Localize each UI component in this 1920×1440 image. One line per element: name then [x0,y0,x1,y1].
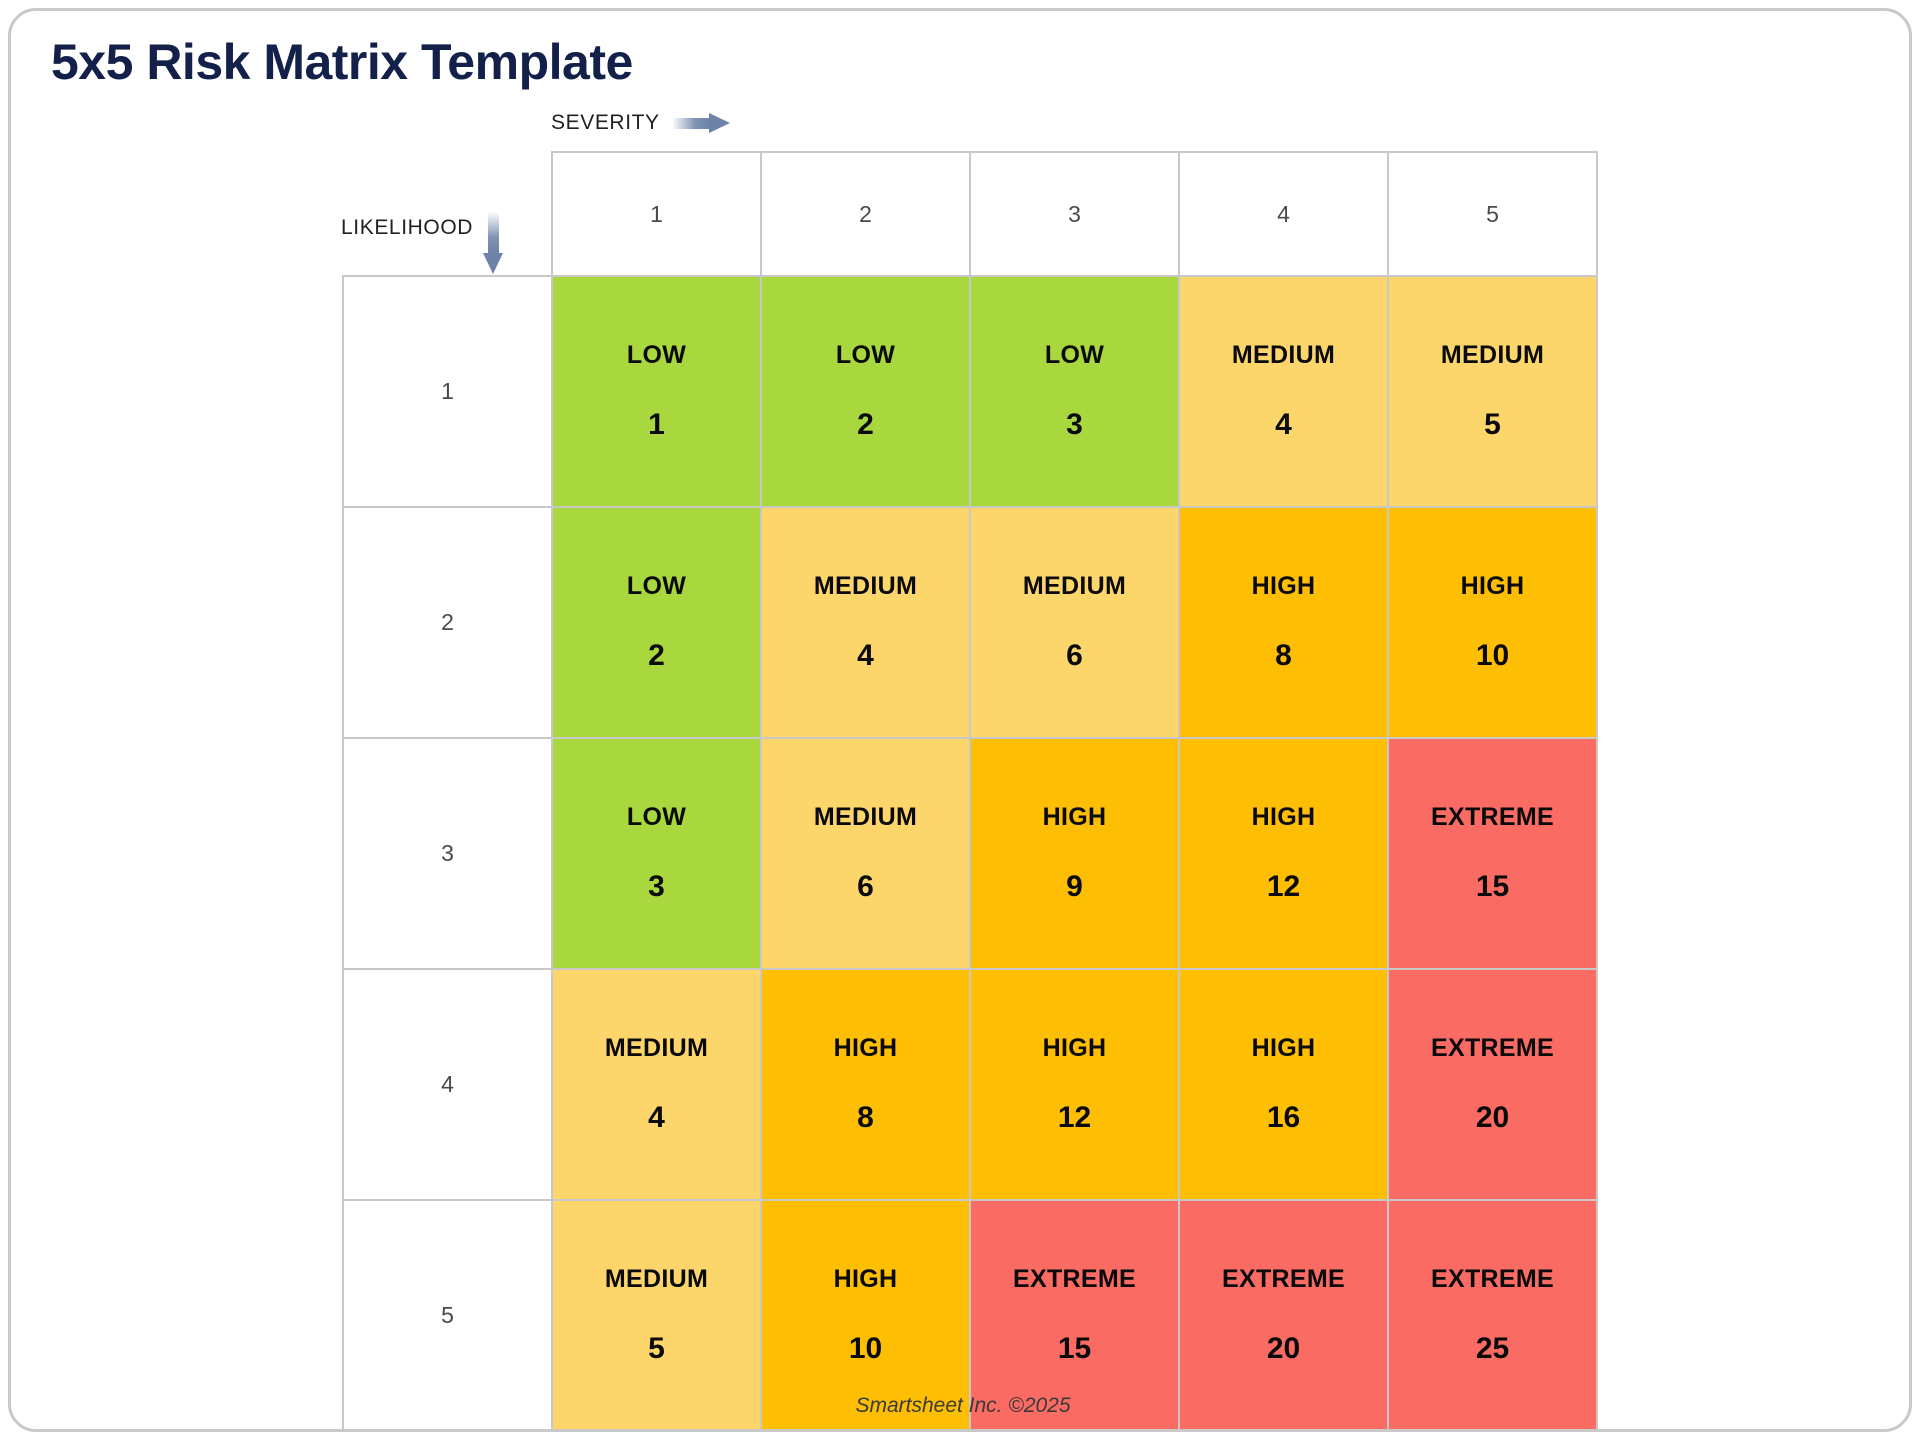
matrix-row: 4 MEDIUM 4 HIGH 8 HIGH 12 HIGH 16 EXTREM… [343,969,1597,1200]
risk-cell-l4-s4[interactable]: HIGH 16 [1179,969,1388,1200]
risk-cell-l4-s3[interactable]: HIGH 12 [970,969,1179,1200]
severity-axis-label: SEVERITY [551,111,730,135]
risk-score-value: 5 [1484,410,1501,440]
risk-score-value: 2 [857,410,874,440]
risk-cell-l3-s4[interactable]: HIGH 12 [1179,738,1388,969]
risk-level-label: LOW [627,805,686,830]
risk-cell-l3-s2[interactable]: MEDIUM 6 [761,738,970,969]
risk-level-label: EXTREME [1013,1267,1136,1292]
risk-score-value: 16 [1267,1103,1300,1133]
risk-cell-l2-s2[interactable]: MEDIUM 4 [761,507,970,738]
risk-level-label: EXTREME [1431,1036,1554,1061]
risk-matrix-card: 5x5 Risk Matrix Template SEVERITY LIKELI… [8,8,1912,1432]
severity-label-text: SEVERITY [551,111,660,135]
risk-cell-l1-s5[interactable]: MEDIUM 5 [1388,276,1597,507]
risk-matrix-table: 1 2 3 4 5 1 LOW 1 LOW 2 LOW 3 [342,151,1598,1432]
risk-level-label: MEDIUM [1441,343,1544,368]
risk-level-label: HIGH [1043,1036,1107,1061]
risk-score-value: 4 [1275,410,1292,440]
risk-score-value: 8 [857,1103,874,1133]
risk-cell-l3-s3[interactable]: HIGH 9 [970,738,1179,969]
risk-level-label: EXTREME [1431,1267,1554,1292]
risk-level-label: MEDIUM [1232,343,1335,368]
risk-score-value: 12 [1267,872,1300,902]
matrix-row: 1 LOW 1 LOW 2 LOW 3 MEDIUM 4 MEDIUM 5 [343,276,1597,507]
risk-level-label: HIGH [1252,805,1316,830]
footer-copyright: Smartsheet Inc. ©2025 [11,1394,1912,1418]
likelihood-header-3: 3 [343,738,552,969]
risk-level-label: HIGH [1043,805,1107,830]
risk-cell-l2-s4[interactable]: HIGH 8 [1179,507,1388,738]
risk-cell-l3-s5[interactable]: EXTREME 15 [1388,738,1597,969]
arrow-right-icon [672,113,730,133]
risk-score-value: 4 [857,641,874,671]
risk-score-value: 15 [1058,1334,1091,1364]
risk-cell-l1-s4[interactable]: MEDIUM 4 [1179,276,1388,507]
risk-score-value: 20 [1476,1103,1509,1133]
risk-level-label: LOW [627,343,686,368]
matrix-row: 3 LOW 3 MEDIUM 6 HIGH 9 HIGH 12 EXTREME … [343,738,1597,969]
risk-score-value: 3 [648,872,665,902]
risk-level-label: HIGH [1252,574,1316,599]
risk-level-label: LOW [627,574,686,599]
likelihood-header-4: 4 [343,969,552,1200]
risk-cell-l1-s1[interactable]: LOW 1 [552,276,761,507]
risk-level-label: HIGH [834,1036,898,1061]
risk-level-label: MEDIUM [814,574,917,599]
severity-header-1: 1 [552,152,761,276]
risk-score-value: 2 [648,641,665,671]
risk-cell-l4-s2[interactable]: HIGH 8 [761,969,970,1200]
matrix-row: 2 LOW 2 MEDIUM 4 MEDIUM 6 HIGH 8 HIGH 10 [343,507,1597,738]
risk-level-label: EXTREME [1222,1267,1345,1292]
risk-score-value: 10 [1476,641,1509,671]
risk-cell-l4-s5[interactable]: EXTREME 20 [1388,969,1597,1200]
risk-level-label: HIGH [1461,574,1525,599]
risk-score-value: 8 [1275,641,1292,671]
risk-cell-l2-s3[interactable]: MEDIUM 6 [970,507,1179,738]
severity-header-2: 2 [761,152,970,276]
risk-level-label: MEDIUM [605,1267,708,1292]
risk-score-value: 9 [1066,872,1083,902]
risk-cell-l1-s2[interactable]: LOW 2 [761,276,970,507]
risk-score-value: 5 [648,1334,665,1364]
risk-level-label: MEDIUM [605,1036,708,1061]
risk-score-value: 1 [648,410,665,440]
risk-cell-l4-s1[interactable]: MEDIUM 4 [552,969,761,1200]
severity-header-3: 3 [970,152,1179,276]
risk-score-value: 10 [849,1334,882,1364]
risk-cell-l1-s3[interactable]: LOW 3 [970,276,1179,507]
risk-score-value: 6 [857,872,874,902]
risk-level-label: HIGH [1252,1036,1316,1061]
risk-level-label: MEDIUM [814,805,917,830]
page-title: 5x5 Risk Matrix Template [51,33,633,91]
risk-score-value: 3 [1066,410,1083,440]
risk-score-value: 20 [1267,1334,1300,1364]
risk-level-label: HIGH [834,1267,898,1292]
risk-cell-l2-s5[interactable]: HIGH 10 [1388,507,1597,738]
risk-cell-l2-s1[interactable]: LOW 2 [552,507,761,738]
risk-level-label: LOW [836,343,895,368]
likelihood-header-1: 1 [343,276,552,507]
risk-level-label: EXTREME [1431,805,1554,830]
severity-header-4: 4 [1179,152,1388,276]
risk-score-value: 25 [1476,1334,1509,1364]
likelihood-header-2: 2 [343,507,552,738]
risk-score-value: 4 [648,1103,665,1133]
risk-level-label: MEDIUM [1023,574,1126,599]
risk-score-value: 12 [1058,1103,1091,1133]
risk-cell-l3-s1[interactable]: LOW 3 [552,738,761,969]
severity-header-5: 5 [1388,152,1597,276]
severity-header-row: 1 2 3 4 5 [343,152,1597,276]
matrix-corner-blank [343,152,552,276]
matrix-body: 1 LOW 1 LOW 2 LOW 3 MEDIUM 4 MEDIUM 5 [343,276,1597,1431]
risk-score-value: 15 [1476,872,1509,902]
risk-score-value: 6 [1066,641,1083,671]
risk-level-label: LOW [1045,343,1104,368]
